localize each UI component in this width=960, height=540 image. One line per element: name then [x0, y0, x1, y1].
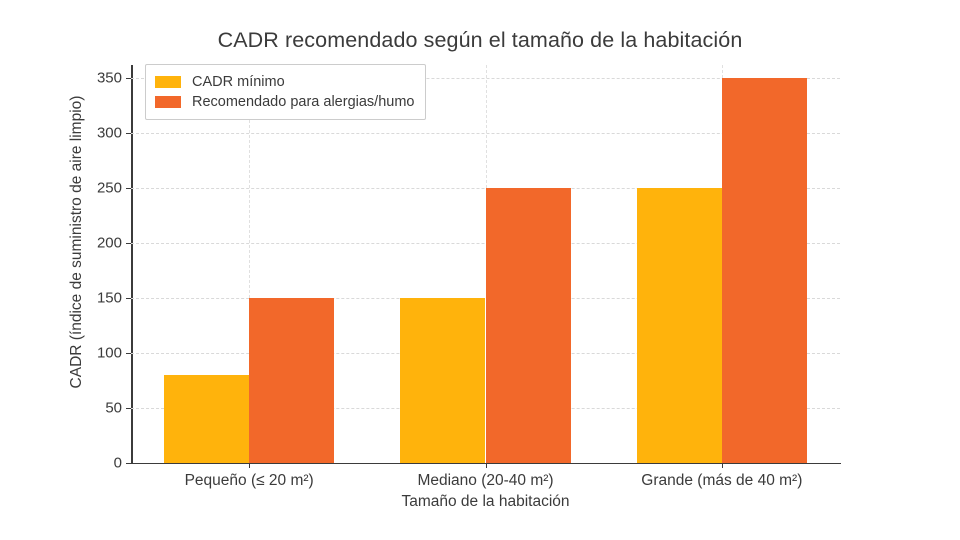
x-tick-label: Grande (más de 40 m²)	[641, 472, 802, 490]
bar	[164, 375, 249, 463]
y-axis-title: CADR (índice de suministro de aire limpi…	[62, 32, 92, 452]
y-tick-mark	[126, 133, 132, 134]
x-tick-mark	[486, 463, 487, 468]
chart-title: CADR recomendado según el tamaño de la h…	[0, 28, 960, 53]
y-tick-label: 50	[105, 400, 122, 417]
y-tick-label: 250	[97, 180, 122, 197]
y-tick-label: 200	[97, 235, 122, 252]
y-tick-mark	[126, 188, 132, 189]
legend-item: Recomendado para alergias/humo	[155, 92, 414, 112]
y-tick-label: 300	[97, 125, 122, 142]
y-tick-mark	[126, 78, 132, 79]
y-tick-label: 350	[97, 70, 122, 87]
legend-label: CADR mínimo	[192, 74, 285, 90]
x-tick-label: Pequeño (≤ 20 m²)	[185, 472, 314, 490]
bar	[722, 78, 807, 463]
y-tick-label: 100	[97, 345, 122, 362]
x-tick-label: Mediano (20-40 m²)	[417, 472, 553, 490]
legend-item: CADR mínimo	[155, 72, 414, 92]
x-tick-mark	[249, 463, 250, 468]
plot-area: 050100150200250300350	[131, 65, 840, 463]
y-tick-label: 150	[97, 290, 122, 307]
y-tick-label: 0	[114, 455, 122, 472]
legend-color-swatch	[155, 96, 181, 108]
y-tick-mark	[126, 353, 132, 354]
x-axis-title: Tamaño de la habitación	[131, 493, 840, 511]
bar	[249, 298, 334, 463]
y-tick-mark	[126, 463, 132, 464]
y-tick-mark	[126, 298, 132, 299]
bar	[400, 298, 485, 463]
legend-color-swatch	[155, 76, 181, 88]
x-tick-mark	[722, 463, 723, 468]
chart-figure: CADR recomendado según el tamaño de la h…	[0, 0, 960, 540]
y-tick-mark	[126, 408, 132, 409]
legend-label: Recomendado para alergias/humo	[192, 94, 414, 110]
y-tick-mark	[126, 243, 132, 244]
bar	[637, 188, 722, 463]
chart-legend: CADR mínimoRecomendado para alergias/hum…	[145, 64, 426, 120]
bar	[486, 188, 571, 463]
